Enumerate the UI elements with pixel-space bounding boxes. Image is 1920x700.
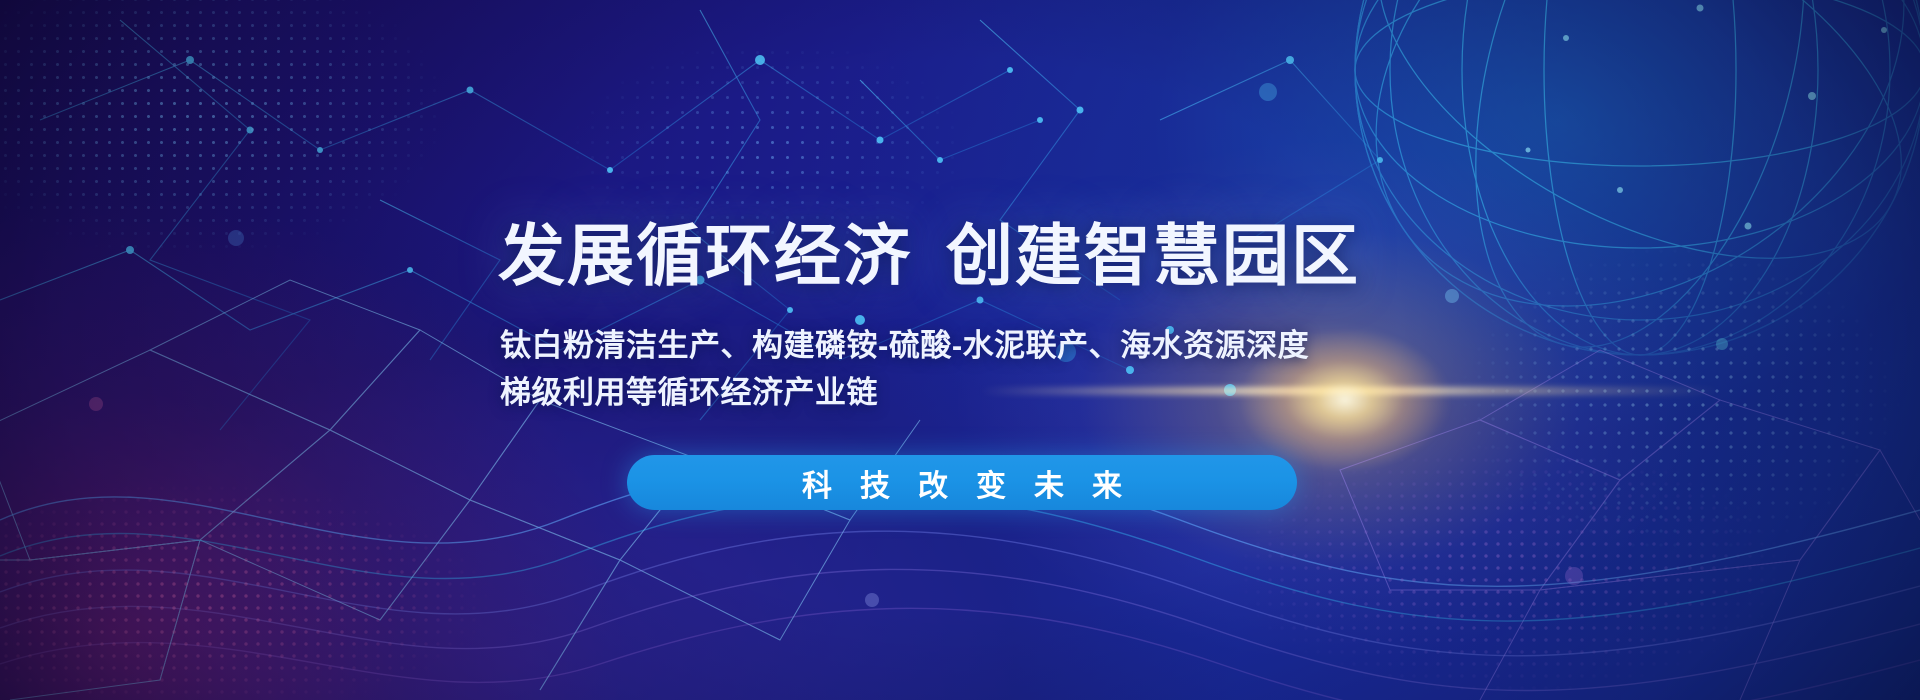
cta-button-label: 科技改变未来: [774, 461, 1150, 505]
headline-part-1: 发展循环经济: [498, 219, 912, 294]
subtitle-line-1: 钛白粉清洁生产、构建磷铵-硫酸-水泥联产、海水资源深度: [500, 322, 1309, 369]
subtitle-block: 钛白粉清洁生产、构建磷铵-硫酸-水泥联产、海水资源深度 梯级利用等循环经济产业链: [500, 322, 1309, 416]
headline-part-2: 创建智慧园区: [946, 219, 1360, 294]
cta-button[interactable]: 科技改变未来: [627, 455, 1297, 510]
page-title: 发展循环经济创建智慧园区: [498, 221, 1360, 293]
subtitle-line-2: 梯级利用等循环经济产业链: [500, 369, 1309, 416]
banner-content: 发展循环经济创建智慧园区 钛白粉清洁生产、构建磷铵-硫酸-水泥联产、海水资源深度…: [0, 0, 1920, 700]
hero-banner: 发展循环经济创建智慧园区 钛白粉清洁生产、构建磷铵-硫酸-水泥联产、海水资源深度…: [0, 0, 1920, 700]
